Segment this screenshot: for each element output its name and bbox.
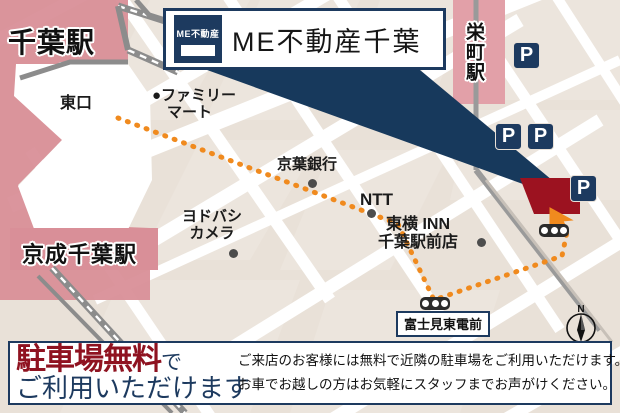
poi-familymart-line1: ●ファミリー	[152, 88, 236, 105]
poi-yodobashi-line2: カメラ	[182, 226, 242, 243]
banner-body: ご来店のお客様には無料で近隣の駐車場をご利用いただけます。 お車でお越しの方はお…	[238, 349, 620, 396]
poi-toyoko-line2: 千葉駅前店	[378, 234, 458, 252]
banner-headline-line2-text: ご利用いただけます	[16, 373, 250, 403]
traffic-signal-icon-south	[420, 297, 450, 310]
parking-icon-1: P	[513, 42, 540, 69]
traffic-signal-icon-north	[539, 224, 569, 237]
me-logo-icon: ME不動産	[174, 15, 222, 63]
me-logo-mark-text: ME不動産	[176, 30, 219, 39]
parking-icon-4: P	[570, 175, 597, 202]
banner-headline-line2: ご利用いただけます	[16, 375, 238, 401]
banner-headline: 駐車場無料で ご利用いただけます	[10, 345, 238, 401]
poi-dot-keiyo-bank	[308, 179, 317, 188]
poi-dot-yodobashi-camera	[229, 249, 238, 258]
company-callout: ME不動産 ME不動産千葉	[163, 8, 446, 70]
poi-label-ntt: NTT	[360, 190, 393, 209]
parking-icon-3: P	[527, 123, 554, 150]
poi-yodobashi-line1: ヨドバシ	[182, 209, 242, 226]
poi-label-yodobashi-camera: ヨドバシ カメラ	[182, 209, 242, 243]
poi-label-toyoko-inn: 東横 INN 千葉駅前店	[378, 216, 458, 252]
station-label-sakaecho: 栄町駅	[463, 22, 483, 82]
banner-body-line2: お車でお越しの方はお気軽にスタッフまでお声がけください。	[238, 373, 620, 397]
banner-headline-highlight: 駐車場無料	[16, 343, 161, 376]
poi-label-higashiguchi: 東口	[60, 95, 92, 113]
parking-icon-2: P	[495, 123, 522, 150]
poi-dot-ntt	[367, 209, 376, 218]
banner-body-line1: ご来店のお客様には無料で近隣の駐車場をご利用いただけます。	[238, 349, 620, 373]
poi-familymart-line2: マート	[152, 105, 236, 122]
intersection-label-fujimi-higashidenmae: 富士見東電前	[396, 311, 490, 337]
me-logo-bar	[181, 45, 215, 56]
poi-label-familymart: ●ファミリー マート	[152, 88, 236, 122]
compass-north-label: N	[562, 305, 600, 315]
poi-label-keiyo-bank: 京葉銀行	[277, 157, 337, 174]
map-canvas: 千葉駅 京成千葉駅 栄町駅 東口 ●ファミリー マート 京葉銀行 NTT ヨドバ…	[0, 0, 620, 413]
poi-dot-toyoko-inn	[477, 238, 486, 247]
station-label-keisei-chiba: 京成千葉駅	[22, 237, 137, 269]
banner-headline-tail: で	[161, 351, 182, 374]
poi-toyoko-line1: 東横 INN	[378, 216, 458, 234]
company-name: ME不動産千葉	[232, 20, 422, 59]
station-label-chiba: 千葉駅	[8, 21, 95, 61]
banner-headline-line1: 駐車場無料で	[16, 345, 238, 375]
parking-free-banner: 駐車場無料で ご利用いただけます ご来店のお客様には無料で近隣の駐車場をご利用い…	[8, 341, 612, 405]
